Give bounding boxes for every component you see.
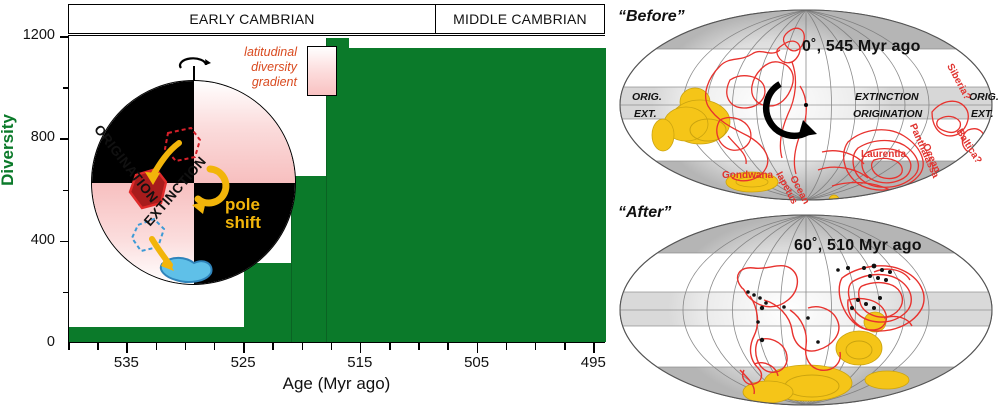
globe-sphere: [91, 80, 296, 285]
x-tick-label-495: 495: [581, 354, 606, 371]
x-tick-512.5: [389, 343, 391, 350]
x-tick-525: [243, 343, 245, 353]
y-tick-400: [60, 241, 69, 243]
era-header-bar: EARLY CAMBRIAN MIDDLE CAMBRIAN: [68, 4, 605, 34]
map-before-anno-origination: ORIGINATION: [853, 108, 922, 120]
globe-inset-diagram: latitudinal diversity gradient: [79, 44, 339, 294]
x-tick-515: [360, 343, 362, 353]
x-tick-527.5: [214, 343, 216, 350]
plot-area: latitudinal diversity gradient: [68, 36, 605, 343]
y-tick-800: [60, 138, 69, 140]
map-after: “After” 60˚, 510 Myr ago: [612, 200, 1000, 410]
map-before: “Before” 0˚, 545 Myr ago ORIG. EXT. EXTI…: [612, 2, 1000, 212]
map-before-anno-left-orig: ORIG.: [632, 91, 662, 103]
x-tick-505: [477, 343, 479, 353]
x-tick-label-525: 525: [231, 354, 256, 371]
y-tick-label-400: 400: [31, 232, 55, 248]
x-tick-507.5: [447, 343, 449, 350]
x-tick-label-515: 515: [347, 354, 372, 371]
globe-overlay-shapes: [92, 81, 296, 285]
x-tick-540: [68, 343, 70, 350]
bar-bin-1: [69, 327, 244, 342]
figure-root: EARLY CAMBRIAN MIDDLE CAMBRIAN 1200 800 …: [0, 0, 1000, 415]
latitudinal-gradient-swatch: [307, 46, 337, 96]
rotation-arrow-icon: [176, 56, 212, 76]
y-tick-label-0: 0: [47, 334, 55, 350]
era-label-early-cambrian: EARLY CAMBRIAN: [68, 4, 436, 34]
x-tick-537.5: [97, 343, 99, 350]
y-tick-1000: [63, 87, 69, 89]
pole-shift-arrow: [198, 169, 226, 203]
pole-shift-label: pole shift: [225, 196, 261, 233]
y-axis: 1200 800 400 0: [0, 36, 68, 343]
y-tick-label-1200: 1200: [23, 27, 55, 43]
y-tick-600: [63, 190, 69, 192]
pole-shift-line-1: pole: [225, 196, 261, 214]
era-label-middle-cambrian: MIDDLE CAMBRIAN: [435, 4, 605, 34]
map-after-graphic: [612, 200, 1000, 410]
map-geo-label-gondwana: Gondwana: [722, 170, 773, 181]
x-tick-510: [418, 343, 420, 350]
map-before-anno-right-orig: ORIG.: [969, 91, 999, 103]
legend-line-2: diversity: [244, 60, 297, 75]
paleogeographic-maps-panel: “Before” 0˚, 545 Myr ago ORIG. EXT. EXTI…: [612, 0, 1000, 415]
x-tick-532.5: [156, 343, 158, 350]
map-before-anno-left-ext: EXT.: [634, 108, 657, 120]
x-tick-502.5: [506, 343, 508, 350]
bar-bin-5: [349, 48, 606, 342]
map-after-tag: “After”: [618, 204, 671, 222]
x-tick-520: [302, 343, 304, 350]
map-after-title: 60˚, 510 Myr ago: [794, 237, 922, 255]
x-tick-517.5: [331, 343, 333, 350]
y-tick-200: [63, 292, 69, 294]
map-before-anno-right-ext: EXT.: [971, 108, 994, 120]
map-before-tag: “Before”: [618, 8, 685, 26]
legend-line-1: latitudinal: [244, 45, 297, 60]
x-tick-497.5: [564, 343, 566, 350]
x-axis-title: Age (Myr ago): [68, 374, 605, 394]
y-tick-1200: [60, 36, 69, 38]
x-tick-495: [593, 343, 595, 353]
map-before-graphic: [612, 2, 1000, 212]
map-before-anno-extinction: EXTINCTION: [855, 91, 919, 103]
y-tick-label-800: 800: [31, 129, 55, 145]
x-tick-530: [185, 343, 187, 350]
pole-shift-line-2: shift: [225, 214, 261, 232]
x-tick-label-535: 535: [114, 354, 139, 371]
map-geo-label-laurentia: Laurentia: [861, 149, 906, 160]
x-tick-label-505: 505: [464, 354, 489, 371]
x-tick-522.5: [272, 343, 274, 350]
diversity-chart-panel: EARLY CAMBRIAN MIDDLE CAMBRIAN 1200 800 …: [0, 0, 615, 415]
x-tick-500: [535, 343, 537, 350]
y-axis-title: Diversity: [0, 114, 18, 186]
x-tick-535: [126, 343, 128, 353]
map-before-title: 0˚, 545 Myr ago: [802, 38, 921, 56]
